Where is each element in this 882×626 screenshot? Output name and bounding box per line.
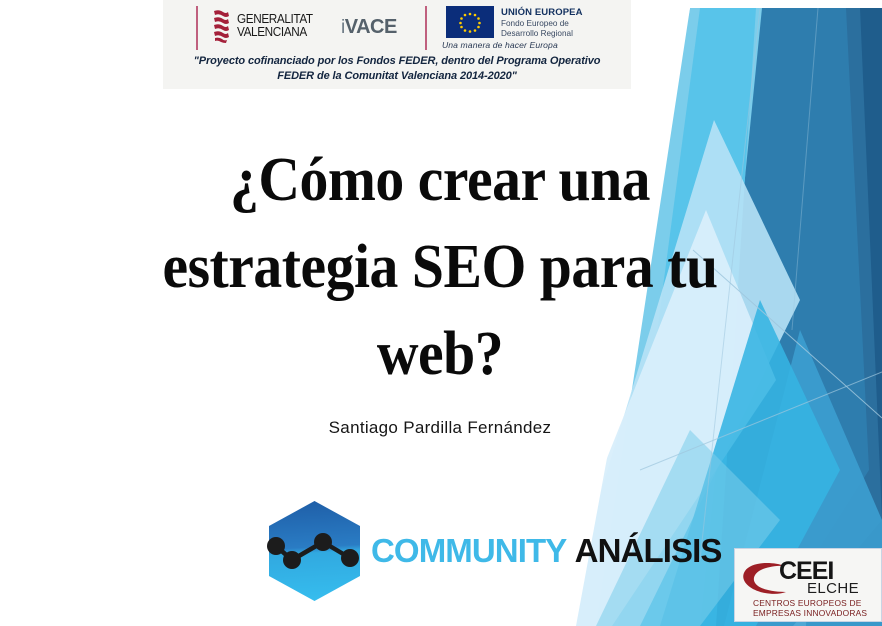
eu-text-block: UNIÓN EUROPEA Fondo Europeo de Desarroll… (501, 6, 583, 38)
generalitat-line1: GENERALITAT (237, 13, 313, 27)
ceei-tagline: CENTROS EUROPEOS DE EMPRESAS INNOVADORAS (753, 598, 867, 618)
funding-banner-logos: GENERALITAT VALENCIANA i VACE (163, 0, 631, 53)
european-union-logo: UNIÓN EUROPEA Fondo Europeo de Desarroll… (446, 6, 583, 38)
community-analisis-logo: COMMUNITY ANÁLISIS (262, 498, 721, 604)
ceei-sub-word: ELCHE (807, 581, 859, 597)
generalitat-wordmark: GENERALITAT VALENCIANA (237, 13, 313, 40)
eu-subtitle-line1: Fondo Europeo de (501, 19, 583, 29)
ceei-tagline-line2: EMPRESAS INNOVADORAS (753, 608, 867, 618)
funding-caption-line2: FEDER de la Comunitat Valenciana 2014-20… (163, 69, 631, 84)
eu-slogan: Una manera de hacer Europa (442, 40, 558, 50)
page-title: ¿Cómo crear una estrategia SEO para tu w… (115, 137, 766, 398)
funding-caption-line1: "Proyecto cofinanciado por los Fondos FE… (163, 54, 631, 69)
eu-subtitle-line2: Desarrollo Regional (501, 29, 583, 39)
eu-title: UNIÓN EUROPEA (501, 7, 583, 18)
ivace-wordmark: VACE (345, 16, 397, 39)
ceei-elche-logo: CEEI ELCHE CENTROS EUROPEOS DE EMPRESAS … (734, 548, 882, 622)
eu-flag-icon (446, 6, 494, 38)
generalitat-shield-icon (211, 9, 233, 43)
author-name: Santiago Pardilla Fernández (90, 418, 790, 438)
banner-divider-right (425, 6, 427, 50)
banner-divider-left (196, 6, 198, 50)
community-word: COMMUNITY (371, 532, 566, 569)
ceei-tagline-line1: CENTROS EUROPEOS DE (753, 598, 867, 608)
hexagon-network-chart-icon (262, 498, 367, 604)
eu-subtitle: Fondo Europeo de Desarrollo Regional (501, 19, 583, 38)
analisis-word: ANÁLISIS (575, 532, 722, 569)
generalitat-valenciana-logo: GENERALITAT VALENCIANA (211, 9, 318, 43)
funding-caption: "Proyecto cofinanciado por los Fondos FE… (163, 54, 631, 84)
generalitat-line2: VALENCIANA (237, 26, 313, 40)
ivace-logo: i VACE (341, 16, 397, 39)
presentation-slide: GENERALITAT VALENCIANA i VACE (0, 0, 882, 626)
community-analisis-wordmark: COMMUNITY ANÁLISIS (371, 532, 721, 570)
decor-left-wedge (8, 10, 78, 418)
funding-banner: GENERALITAT VALENCIANA i VACE (163, 0, 631, 89)
